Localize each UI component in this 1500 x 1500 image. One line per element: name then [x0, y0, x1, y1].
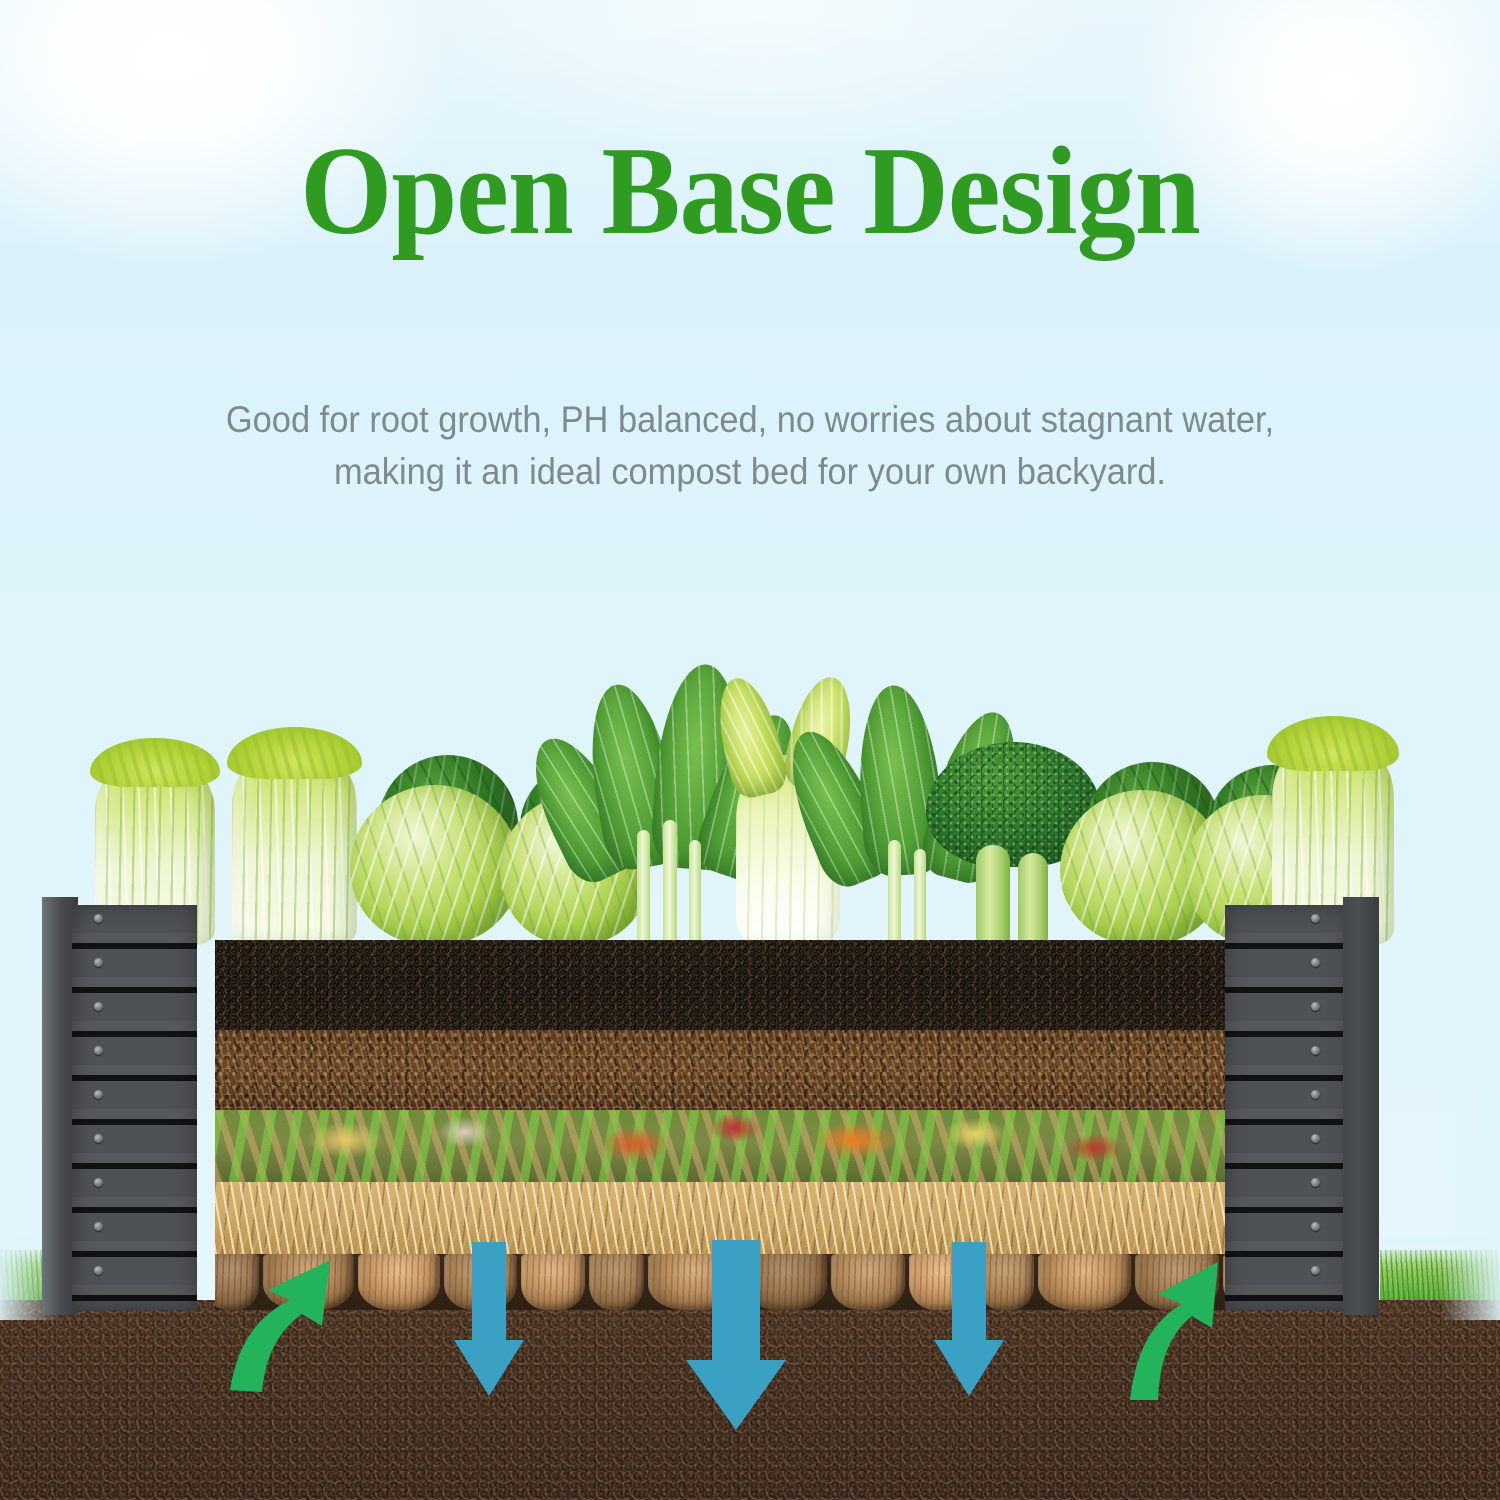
subtitle-line-1: Good for root growth, PH balanced, no wo…: [53, 394, 1448, 446]
page-title: Open Base Design: [45, 132, 1455, 252]
airflow-arrow-up-right: [1130, 1262, 1218, 1400]
airflow-arrow-down-center: [686, 1240, 786, 1430]
page-subtitle: Good for root growth, PH balanced, no wo…: [53, 394, 1448, 498]
airflow-arrow-down-left: [454, 1242, 524, 1396]
airflow-arrow-down-right: [934, 1242, 1004, 1396]
airflow-arrows: [0, 600, 1500, 1500]
subtitle-line-2: making it an ideal compost bed for your …: [53, 446, 1448, 498]
airflow-arrow-up-left: [230, 1260, 330, 1392]
sky-background: [0, 0, 1500, 640]
promo-graphic-page: Open Base Design Good for root growth, P…: [0, 0, 1500, 1500]
garden-bed-scene: [0, 600, 1500, 1500]
